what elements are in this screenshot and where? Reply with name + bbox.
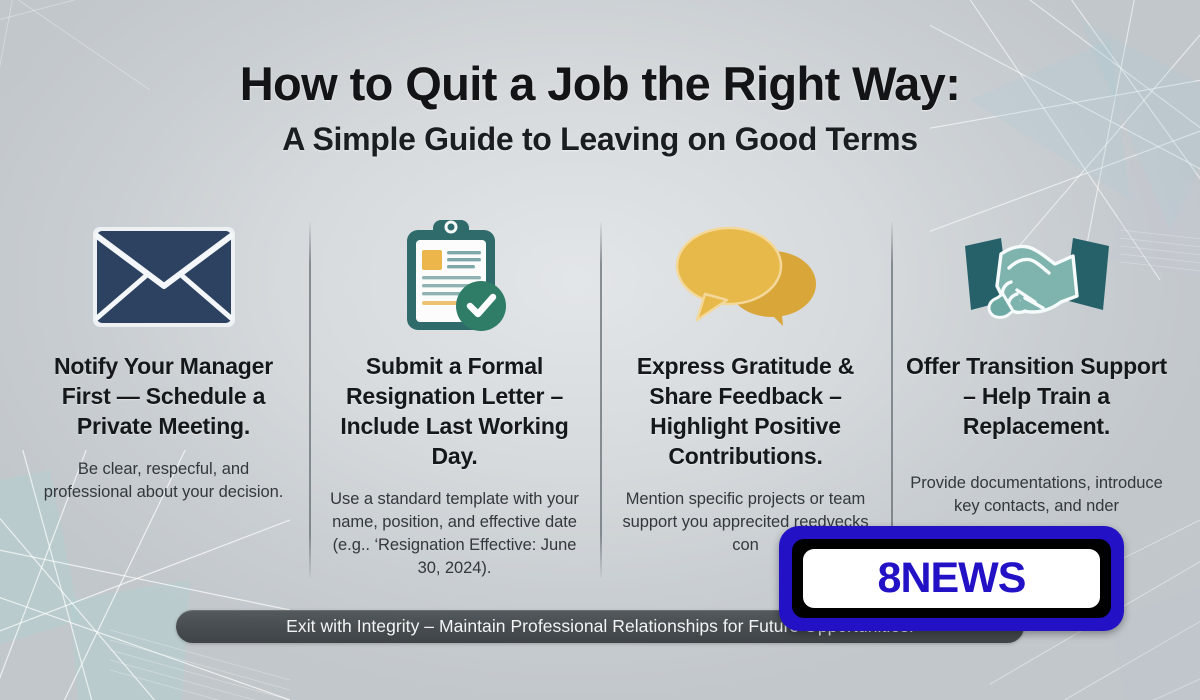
step-icon-wrapper xyxy=(671,216,821,338)
title-block: How to Quit a Job the Right Way: A Simpl… xyxy=(0,58,1200,157)
logo-middle-frame: 8NEWS xyxy=(792,539,1111,618)
logo-inner-panel: 8NEWS xyxy=(803,549,1100,608)
step-body: Be clear, respecful, and professional ab… xyxy=(32,458,295,504)
step-icon-wrapper xyxy=(397,216,513,338)
step-heading: Notify Your Manager First — Schedule a P… xyxy=(32,352,295,442)
clipboard-check-icon xyxy=(397,218,513,336)
step-column-resignation-letter: Submit a Formal Resignation Letter – Inc… xyxy=(309,216,600,588)
news-logo: 8NEWS xyxy=(779,526,1124,631)
step-column-notify-manager: Notify Your Manager First — Schedule a P… xyxy=(18,216,309,588)
logo-text: 8NEWS xyxy=(878,557,1026,600)
speech-bubbles-icon xyxy=(671,222,821,332)
step-heading: Offer Transition Support – Help Train a … xyxy=(905,352,1168,442)
page-title: How to Quit a Job the Right Way: xyxy=(0,58,1200,111)
handshake-icon xyxy=(957,224,1117,330)
step-heading: Express Gratitude & Share Feedback – Hig… xyxy=(614,352,877,472)
infographic-canvas: How to Quit a Job the Right Way: A Simpl… xyxy=(0,0,1200,700)
step-icon-wrapper xyxy=(90,216,238,338)
step-body: Use a standard template with your name, … xyxy=(323,488,586,580)
step-heading: Submit a Formal Resignation Letter – Inc… xyxy=(323,352,586,472)
page-subtitle: A Simple Guide to Leaving on Good Terms xyxy=(0,121,1200,158)
step-body: Provide documentations, introduce key co… xyxy=(905,472,1168,518)
step-icon-wrapper xyxy=(957,216,1117,338)
envelope-icon xyxy=(90,224,238,330)
